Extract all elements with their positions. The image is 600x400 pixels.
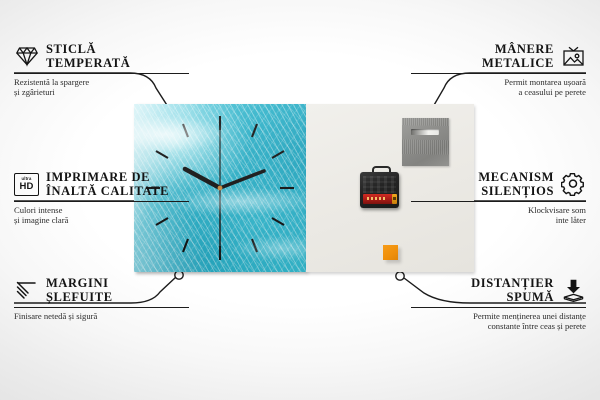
- infographic-canvas: STICLĂ TEMPERATĂ Rezistentă la spargere …: [0, 0, 600, 400]
- feature-glass-rule: [14, 73, 189, 74]
- feature-edges-head: MARGINI ȘLEFUITE: [14, 276, 189, 304]
- feature-print: ultra HD IMPRIMARE DE ÎNALTĂ CALITATE Cu…: [14, 170, 189, 226]
- wall-hanger-frame-icon: [561, 44, 586, 69]
- feature-mechanism-subtitle: Klockvisare som inte låter: [411, 205, 586, 226]
- feature-edges-title: MARGINI ȘLEFUITE: [46, 276, 113, 304]
- aa-battery: [363, 194, 393, 204]
- ultra-hd-large-label: HD: [19, 182, 33, 192]
- hanger-keyhole-slot: [411, 129, 439, 135]
- feature-print-head: ultra HD IMPRIMARE DE ÎNALTĂ CALITATE: [14, 170, 189, 198]
- feature-handles-subtitle: Permit montarea ușoară a ceasului pe per…: [411, 77, 586, 98]
- metal-hanger-plate: [402, 118, 449, 166]
- polished-edges-icon: [14, 278, 39, 303]
- feature-mechanism-head: MECANISM SILENȚIOS: [411, 170, 586, 198]
- feature-edges-subtitle: Finisare netedă și sigură: [14, 311, 189, 321]
- clock-minute-hand: [220, 171, 264, 188]
- feature-glass-subtitle: Rezistentă la spargere și zgârieturi: [14, 77, 189, 98]
- feature-glass: STICLĂ TEMPERATĂ Rezistentă la spargere …: [14, 42, 189, 98]
- feature-spacer-head: DISTANȚIER SPUMĂ: [411, 276, 586, 304]
- feature-mechanism-rule: [411, 201, 586, 202]
- feature-print-rule: [14, 201, 189, 202]
- feature-spacer-subtitle: Permite menținerea unei distanțe constan…: [411, 311, 586, 332]
- feature-glass-head: STICLĂ TEMPERATĂ: [14, 42, 189, 70]
- feature-handles-title: MÂNERE METALICE: [482, 42, 554, 70]
- battery-positive-cap: [392, 194, 397, 204]
- feature-edges-rule: [14, 307, 189, 308]
- feature-edges: MARGINI ȘLEFUITE Finisare netedă și sigu…: [14, 276, 189, 321]
- feature-spacer: DISTANȚIER SPUMĂ Permite menținerea unei…: [411, 276, 586, 332]
- feature-handles: MÂNERE METALICE Permit montarea ușoară a…: [411, 42, 586, 98]
- feature-handles-rule: [411, 73, 586, 74]
- clock-hour-hand: [185, 169, 220, 188]
- feature-mechanism-title: MECANISM SILENȚIOS: [478, 170, 554, 198]
- feature-handles-head: MÂNERE METALICE: [411, 42, 586, 70]
- movement-body: [360, 172, 399, 208]
- ultra-hd-badge-icon: ultra HD: [14, 172, 39, 197]
- feature-mechanism: MECANISM SILENȚIOS Klockvisare som inte …: [411, 170, 586, 226]
- clock-center-cap: [218, 186, 223, 191]
- feature-glass-title: STICLĂ TEMPERATĂ: [46, 42, 130, 70]
- feature-spacer-rule: [411, 307, 586, 308]
- diamond-icon: [14, 44, 39, 69]
- gear-icon: [561, 172, 586, 197]
- foam-spacer-pad: [383, 245, 398, 260]
- feature-print-title: IMPRIMARE DE ÎNALTĂ CALITATE: [46, 170, 169, 198]
- foam-spacer-arrow-icon: [561, 278, 586, 303]
- feature-spacer-title: DISTANȚIER SPUMĂ: [471, 276, 554, 304]
- movement-label: [363, 176, 396, 193]
- quartz-movement: [360, 166, 399, 208]
- feature-print-subtitle: Culori intense și imagine clară: [14, 205, 189, 226]
